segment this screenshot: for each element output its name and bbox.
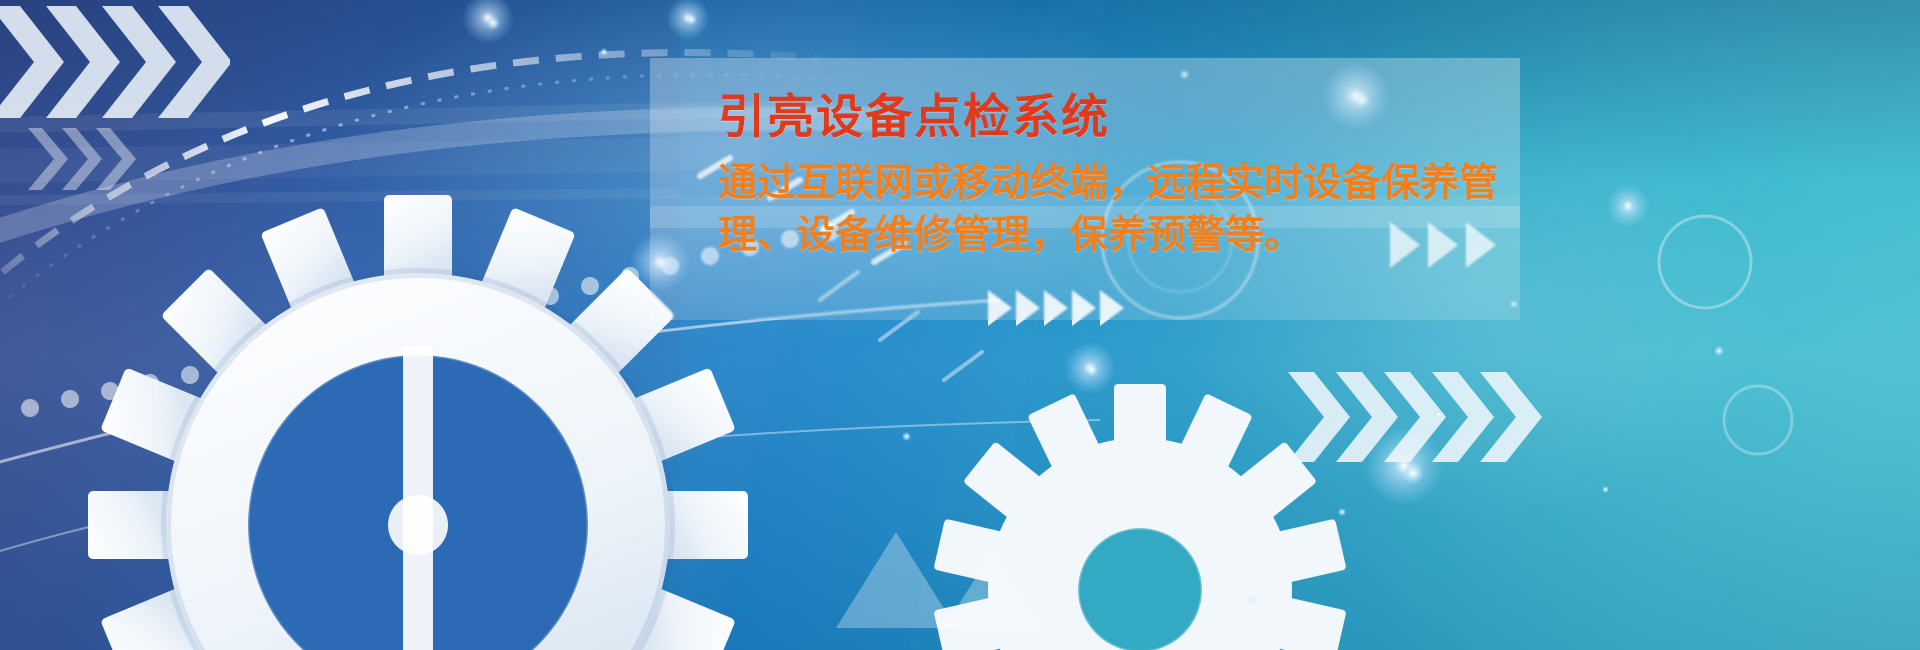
- triangles-bottom-center-icon: [836, 508, 1056, 628]
- chevrons-small-left-icon: [28, 128, 218, 190]
- hero-banner: 引亮设备点检系统 通过互联网或移动终端，远程实时设备保养管理、设备维修管理，保养…: [0, 0, 1920, 650]
- banner-subtitle: 通过互联网或移动终端，远程实时设备保养管理、设备维修管理，保养预警等。: [718, 158, 1508, 261]
- banner-text-block: 引亮设备点检系统 通过互联网或移动终端，远程实时设备保养管理、设备维修管理，保养…: [718, 92, 1508, 261]
- chevrons-bottom-right-icon: [1288, 372, 1618, 464]
- chevrons-top-left-icon: [0, 6, 230, 121]
- banner-title: 引亮设备点检系统: [718, 92, 1508, 141]
